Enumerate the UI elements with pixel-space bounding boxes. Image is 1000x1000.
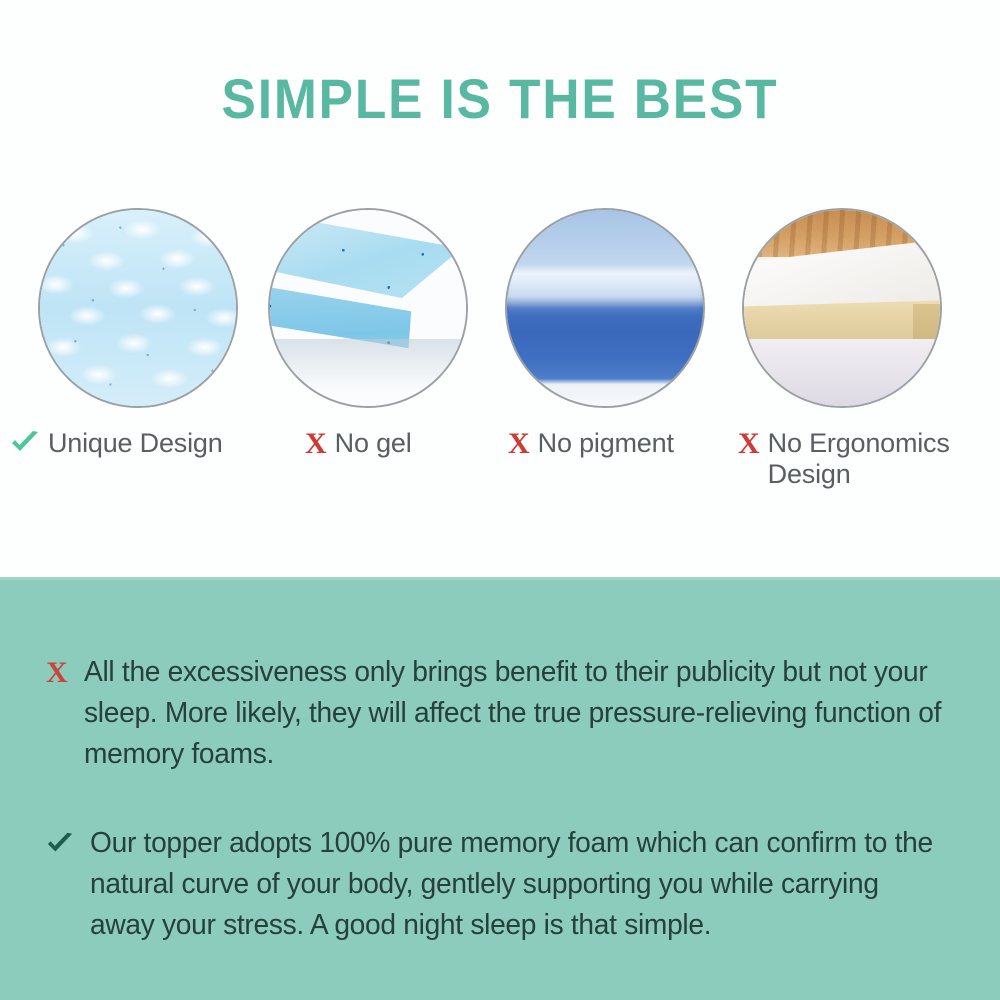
feature-caption-label: No Ergonomics Design — [768, 428, 990, 491]
bullet-pure-memory-foam: Our topper adopts 100% pure memory foam … — [46, 823, 976, 947]
x-icon: X — [738, 429, 760, 459]
gel-foam-block-texture — [270, 210, 466, 406]
bullet-excessiveness: X All the excessiveness only brings bene… — [46, 652, 976, 776]
feature-item-no-ergonomics-design — [742, 208, 946, 408]
feature-image-no-ergonomics-design — [742, 208, 942, 408]
top-section: SIMPLE IS THE BEST — [0, 0, 1000, 577]
feature-caption-no-gel: X No gel — [305, 428, 535, 459]
description-panel: X All the excessiveness only brings bene… — [0, 577, 1000, 1000]
check-icon — [10, 430, 40, 456]
x-icon: X — [508, 429, 530, 459]
check-icon — [46, 831, 74, 857]
bullet-text: Our topper adopts 100% pure memory foam … — [90, 823, 949, 947]
feature-caption-no-ergonomics-design: X No Ergonomics Design — [738, 428, 990, 491]
feature-image-no-gel — [268, 208, 468, 408]
feature-image-no-pigment — [505, 208, 705, 408]
bed-sheet-bottom — [744, 339, 940, 406]
x-icon: X — [46, 658, 68, 688]
x-icon: X — [305, 429, 327, 459]
feature-caption-no-pigment: X No pigment — [508, 428, 738, 459]
feature-item-no-gel — [268, 208, 472, 408]
page-title: SIMPLE IS THE BEST — [40, 66, 960, 131]
foam-wave-texture — [40, 210, 236, 406]
feature-item-no-pigment — [505, 208, 709, 408]
feature-image-unique-design — [38, 208, 238, 408]
bullet-text: All the excessiveness only brings benefi… — [84, 652, 950, 776]
feature-caption-label: No gel — [335, 428, 412, 459]
pigmented-foam-texture — [507, 210, 703, 406]
feature-circle-row — [0, 208, 1000, 414]
block-shadow — [270, 339, 466, 406]
foam-on-bed-texture — [744, 210, 940, 406]
feature-caption-label: No pigment — [538, 428, 674, 459]
feature-item-unique-design — [38, 208, 242, 408]
feature-caption-label: Unique Design — [48, 428, 223, 459]
feature-caption-unique-design: Unique Design — [10, 428, 280, 459]
product-infographic: SIMPLE IS THE BEST — [0, 0, 1000, 1000]
